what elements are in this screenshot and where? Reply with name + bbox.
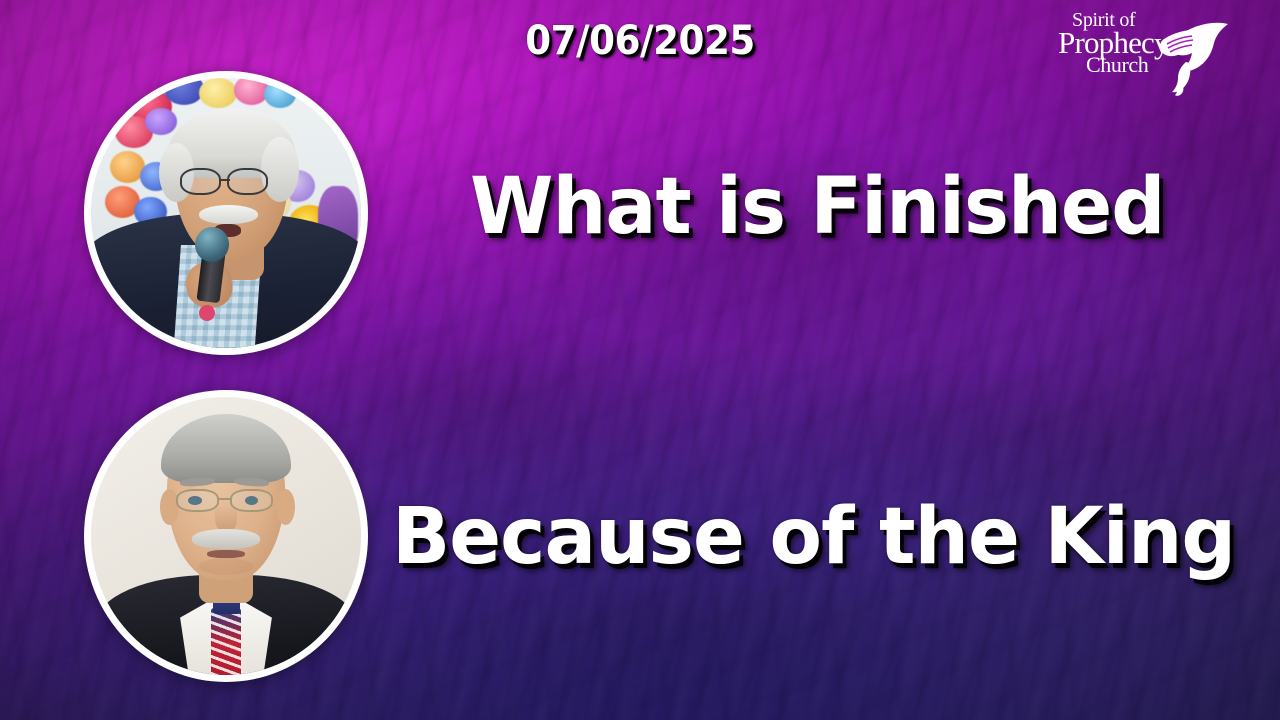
sermon-title-line-1: What is Finished [470,168,1164,246]
sermon-title-slide: 07/06/2025 Spirit of Prophecy Church [0,0,1280,720]
portrait-speaker-2 [84,390,368,682]
portrait-speaker-2-image [91,397,361,675]
sermon-title-line-2: Because of the King [392,498,1235,576]
dove-icon [1050,6,1250,102]
church-logo: Spirit of Prophecy Church [1050,6,1250,102]
portrait-speaker-1-image [91,78,361,348]
portrait-speaker-1 [84,71,368,355]
